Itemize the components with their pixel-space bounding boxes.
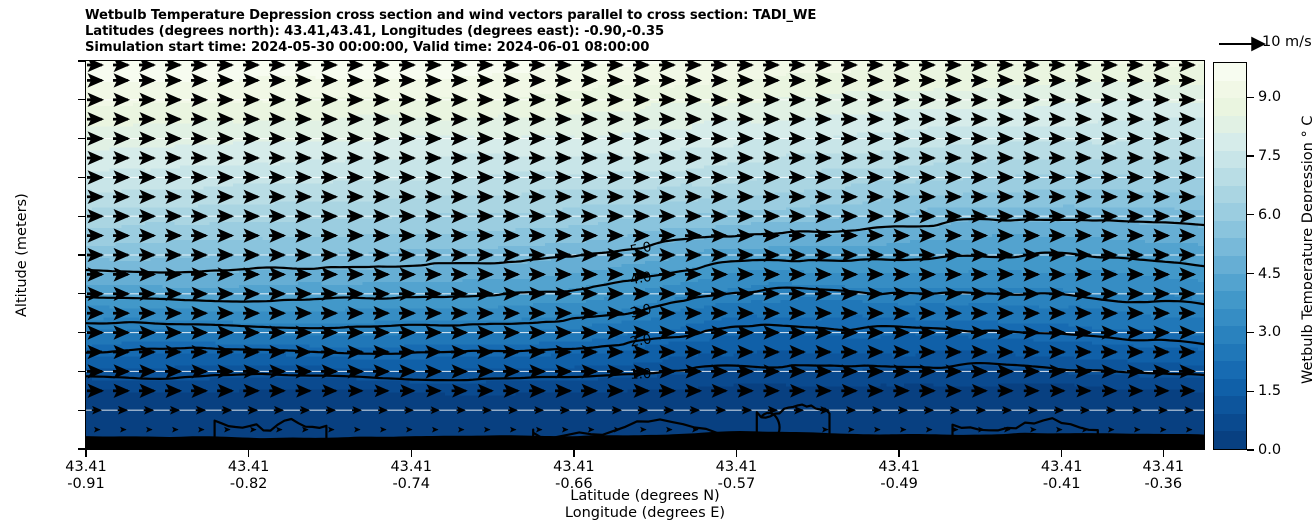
x-axis-tick <box>1061 450 1062 457</box>
colorbar-segment <box>1214 273 1246 291</box>
x-tick-latitude: 43.41 <box>65 459 107 476</box>
colorbar-segment <box>1214 413 1246 431</box>
y-axis-tick <box>78 138 85 139</box>
x-axis-tick-label: 43.41-0.41 <box>1041 459 1083 493</box>
contour-label: 1.0 <box>630 366 652 383</box>
x-axis-tick <box>248 450 249 457</box>
x-tick-latitude: 43.41 <box>878 459 920 476</box>
colorbar-tick <box>1247 155 1254 156</box>
y-axis-tick <box>78 216 85 217</box>
colorbar-segment <box>1214 255 1246 273</box>
x-tick-longitude: -0.49 <box>878 476 920 493</box>
figure-title-line3: Simulation start time: 2024-05-30 00:00:… <box>85 40 649 55</box>
colorbar-segment <box>1214 220 1246 238</box>
colorbar-segment <box>1214 150 1246 168</box>
colorbar-segment <box>1214 185 1246 203</box>
figure-canvas: Wetbulb Temperature Depression cross sec… <box>0 0 1312 526</box>
x-axis-tick <box>85 450 86 457</box>
colorbar-segment <box>1214 203 1246 221</box>
x-tick-longitude: -0.82 <box>228 476 270 493</box>
colorbar-segment <box>1214 396 1246 414</box>
cross-section-plot: 1.02.03.04.05.0 <box>85 60 1205 450</box>
x-tick-latitude: 43.41 <box>228 459 270 476</box>
colorbar-tick-label: 6.0 <box>1258 207 1281 223</box>
x-tick-longitude: -0.36 <box>1143 476 1185 493</box>
x-axis-tick-label: 43.41-0.49 <box>878 459 920 493</box>
x-axis-title-longitude: Longitude (degrees E) <box>565 505 725 521</box>
x-tick-longitude: -0.41 <box>1041 476 1083 493</box>
figure-title-line2: Latitudes (degrees north): 43.41,43.41, … <box>85 24 664 39</box>
colorbar-segment <box>1214 378 1246 396</box>
colorbar-segment <box>1214 115 1246 133</box>
colorbar-tick-label: 3.0 <box>1258 324 1281 340</box>
y-axis-tick <box>78 410 85 411</box>
y-axis-tick <box>78 177 85 178</box>
colorbar-segment <box>1214 361 1246 379</box>
colorbar-title: Wetbulb Temperature Depression ° C <box>1300 116 1312 384</box>
x-axis-tick-label: 43.41-0.36 <box>1143 459 1185 493</box>
wind-key-label: 10 m/s <box>1262 34 1312 50</box>
colorbar-segment <box>1214 98 1246 116</box>
y-axis-tick <box>78 254 85 255</box>
x-axis-tick <box>573 450 574 457</box>
y-axis-tick <box>78 371 85 372</box>
x-axis-tick <box>898 450 899 457</box>
colorbar-segment <box>1214 168 1246 186</box>
colorbar-tick-label: 7.5 <box>1258 148 1281 164</box>
colorbar-segment <box>1214 62 1246 80</box>
colorbar-tick <box>1247 97 1254 98</box>
x-tick-latitude: 43.41 <box>716 459 758 476</box>
colorbar-tick <box>1247 214 1254 215</box>
colorbar-tick <box>1247 449 1254 450</box>
colorbar-segment <box>1214 326 1246 344</box>
y-axis-title: Altitude (meters) <box>14 193 30 317</box>
x-tick-latitude: 43.41 <box>1143 459 1185 476</box>
figure-title-line1: Wetbulb Temperature Depression cross sec… <box>85 8 816 23</box>
x-tick-latitude: 43.41 <box>390 459 432 476</box>
colorbar-segment <box>1214 291 1246 309</box>
colorbar-tick-label: 9.0 <box>1258 89 1281 105</box>
colorbar-segment <box>1214 238 1246 256</box>
colorbar-tick-label: 0.0 <box>1258 442 1281 458</box>
colorbar-segment <box>1214 133 1246 151</box>
colorbar <box>1213 62 1247 450</box>
x-axis-tick <box>1163 450 1164 457</box>
colorbar-segment <box>1214 343 1246 361</box>
y-axis-tick <box>78 332 85 333</box>
y-axis-tick <box>78 448 85 449</box>
x-tick-longitude: -0.91 <box>65 476 107 493</box>
x-tick-longitude: -0.57 <box>716 476 758 493</box>
y-axis-tick <box>78 99 85 100</box>
y-axis-tick <box>78 60 85 61</box>
colorbar-segment <box>1214 80 1246 98</box>
x-axis-tick-label: 43.41-0.91 <box>65 459 107 493</box>
x-axis-tick <box>736 450 737 457</box>
x-axis-tick-label: 43.41-0.82 <box>228 459 270 493</box>
colorbar-tick <box>1247 391 1254 392</box>
colorbar-tick <box>1247 273 1254 274</box>
x-axis-title-latitude: Latitude (degrees N) <box>570 488 719 504</box>
x-tick-longitude: -0.74 <box>390 476 432 493</box>
colorbar-tick-label: 4.5 <box>1258 266 1281 282</box>
x-tick-latitude: 43.41 <box>1041 459 1083 476</box>
colorbar-tick-label: 1.5 <box>1258 383 1281 399</box>
y-axis-tick <box>78 293 85 294</box>
colorbar-tick <box>1247 332 1254 333</box>
colorbar-segment <box>1214 431 1246 449</box>
x-axis-tick <box>411 450 412 457</box>
colorbar-segment <box>1214 308 1246 326</box>
x-axis-tick-label: 43.41-0.74 <box>390 459 432 493</box>
x-tick-latitude: 43.41 <box>553 459 595 476</box>
x-axis-tick-label: 43.41-0.57 <box>716 459 758 493</box>
